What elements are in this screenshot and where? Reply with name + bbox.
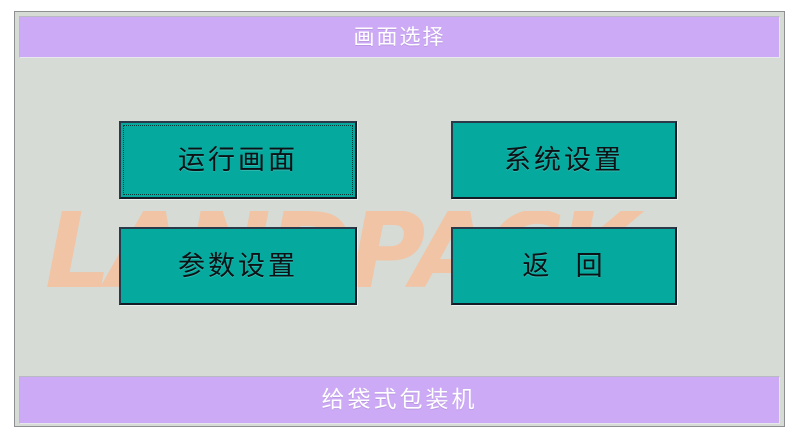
hmi-panel: 画面选择 LANDPACK 运行画面 系统设置 参数设置 返 回 给袋式包装机 xyxy=(14,11,785,427)
screen-selection-work-area: LANDPACK 运行画面 系统设置 参数设置 返 回 xyxy=(19,61,780,373)
button-run-screen-label: 运行画面 xyxy=(178,147,298,174)
button-return-label: 返 回 xyxy=(522,253,605,280)
button-system-settings[interactable]: 系统设置 xyxy=(451,121,677,199)
page-title: 画面选择 xyxy=(354,27,446,48)
footer-status-bar: 给袋式包装机 xyxy=(19,376,780,424)
machine-name-label: 给袋式包装机 xyxy=(322,389,478,412)
title-bar: 画面选择 xyxy=(19,16,780,58)
button-system-settings-label: 系统设置 xyxy=(504,147,624,174)
button-parameter-settings[interactable]: 参数设置 xyxy=(119,227,357,305)
button-parameter-settings-label: 参数设置 xyxy=(178,253,298,280)
button-run-screen[interactable]: 运行画面 xyxy=(119,121,357,199)
button-return[interactable]: 返 回 xyxy=(451,227,677,305)
